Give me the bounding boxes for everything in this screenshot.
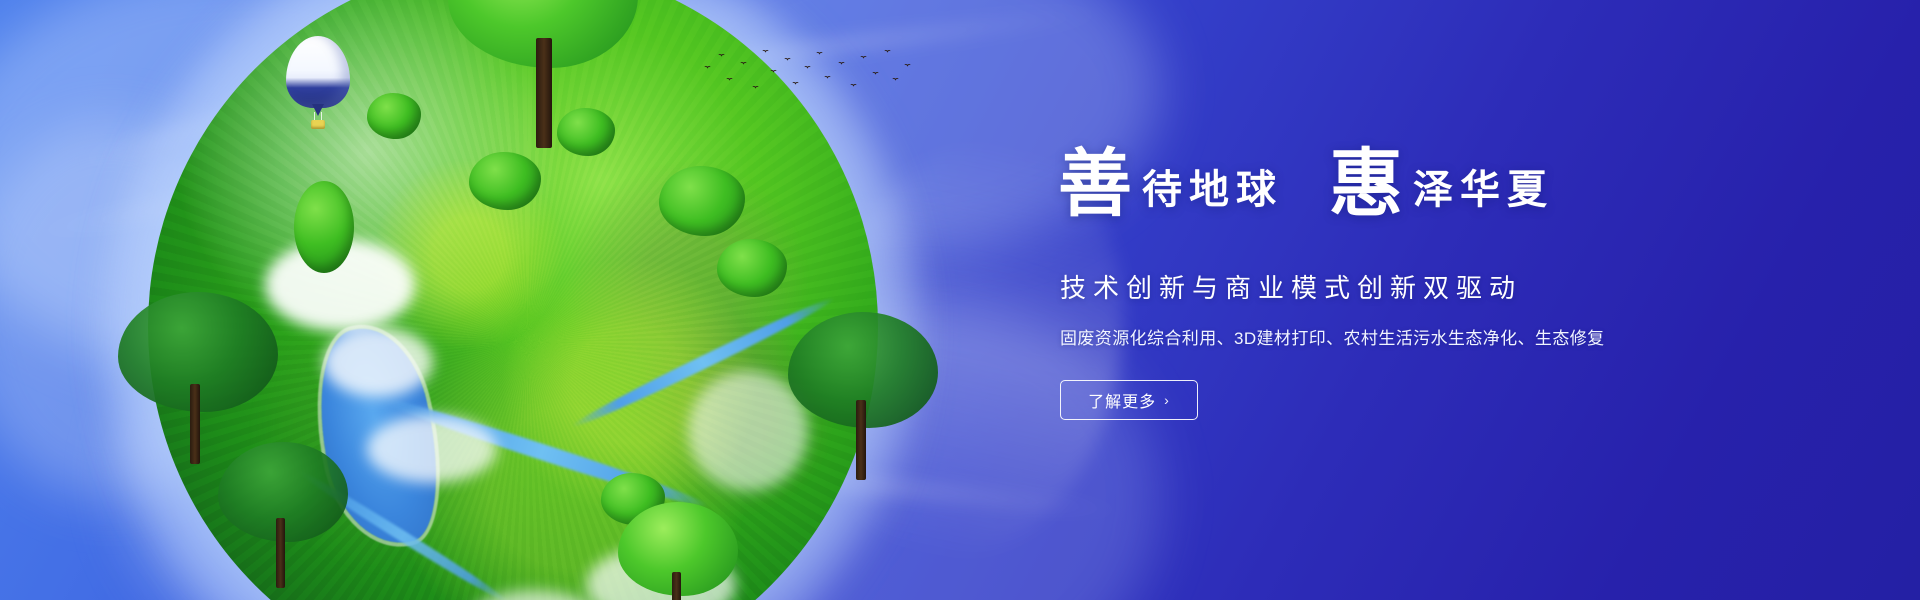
tree-left <box>118 292 278 462</box>
hero-content: 善待地球惠泽华夏 技术创新与商业模式创新双驱动 固废资源化综合利用、3D建材打印… <box>1058 0 1758 600</box>
headline-char-1: 善 <box>1058 144 1132 226</box>
globe-cloud <box>367 415 497 483</box>
learn-more-button[interactable]: 了解更多 › <box>1060 380 1198 420</box>
hot-air-balloon-icon <box>286 36 350 128</box>
globe-bush <box>294 181 354 273</box>
globe-bush <box>469 152 541 210</box>
birds-flock <box>700 44 920 108</box>
globe-bush <box>659 166 745 236</box>
globe-bush <box>367 93 421 139</box>
headline-text-2: 泽华夏 <box>1413 167 1554 212</box>
learn-more-label: 了解更多 <box>1088 388 1156 412</box>
hero-description: 固废资源化综合利用、3D建材打印、农村生活污水生态净化、生态修复 <box>1060 324 1605 349</box>
tree-top <box>448 0 638 128</box>
globe-cloud <box>323 327 433 397</box>
headline-char-2: 惠 <box>1329 144 1403 226</box>
hero-headline: 善待地球惠泽华夏 <box>1058 148 1554 222</box>
hero-subtitle: 技术创新与商业模式创新双驱动 <box>1060 268 1522 305</box>
tree-right <box>788 312 938 482</box>
hero-banner: 善待地球惠泽华夏 技术创新与商业模式创新双驱动 固废资源化综合利用、3D建材打印… <box>0 0 1920 600</box>
tree-bottom-right <box>618 502 738 600</box>
headline-text-1: 待地球 <box>1142 167 1283 212</box>
chevron-right-icon: › <box>1164 392 1170 408</box>
tree-bottom-left <box>218 442 348 592</box>
